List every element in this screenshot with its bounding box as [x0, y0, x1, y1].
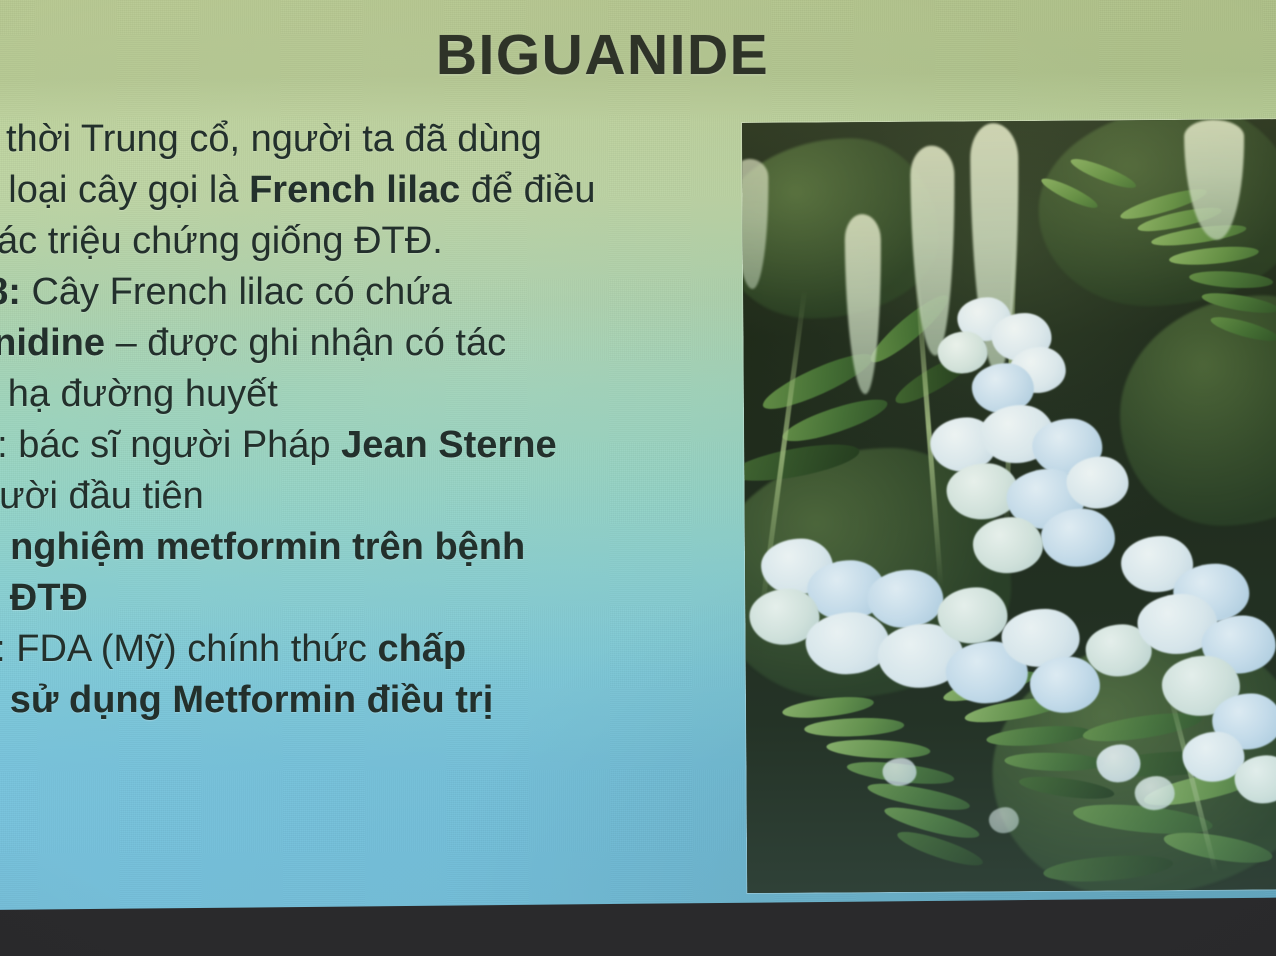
body-line: ừ thời Trung cổ, người ta đã dùng: [0, 120, 745, 171]
body-line: gười đầu tiên: [0, 477, 745, 528]
slide-body-text: ừ thời Trung cổ, người ta đã dùng ột loạ…: [0, 120, 745, 732]
body-line: các triệu chứng giống ĐTĐ.: [0, 222, 745, 273]
slide-title: BIGUANIDE: [0, 22, 1205, 88]
body-line: anidine – được ghi nhận có tác: [0, 324, 745, 375]
body-line: n sử dụng Metformin điều trị: [0, 681, 745, 732]
french-lilac-photo: [742, 119, 1276, 893]
photographed-slide-frame: BIGUANIDE ừ thời Trung cổ, người ta đã d…: [0, 0, 1276, 956]
body-line: ư nghiệm metformin trên bệnh: [0, 528, 745, 579]
photo-canvas: [742, 119, 1276, 893]
body-line: g hạ đường huyết: [0, 375, 745, 426]
body-line: ột loại cây gọi là French lilac để điều: [0, 171, 745, 222]
body-line: 7: bác sĩ người Pháp Jean Sterne: [0, 426, 745, 477]
body-line: 4: FDA (Mỹ) chính thức chấp: [0, 630, 745, 681]
body-line: 18: Cây French lilac có chứa: [0, 273, 745, 324]
body-line: n ĐTĐ: [0, 579, 745, 630]
